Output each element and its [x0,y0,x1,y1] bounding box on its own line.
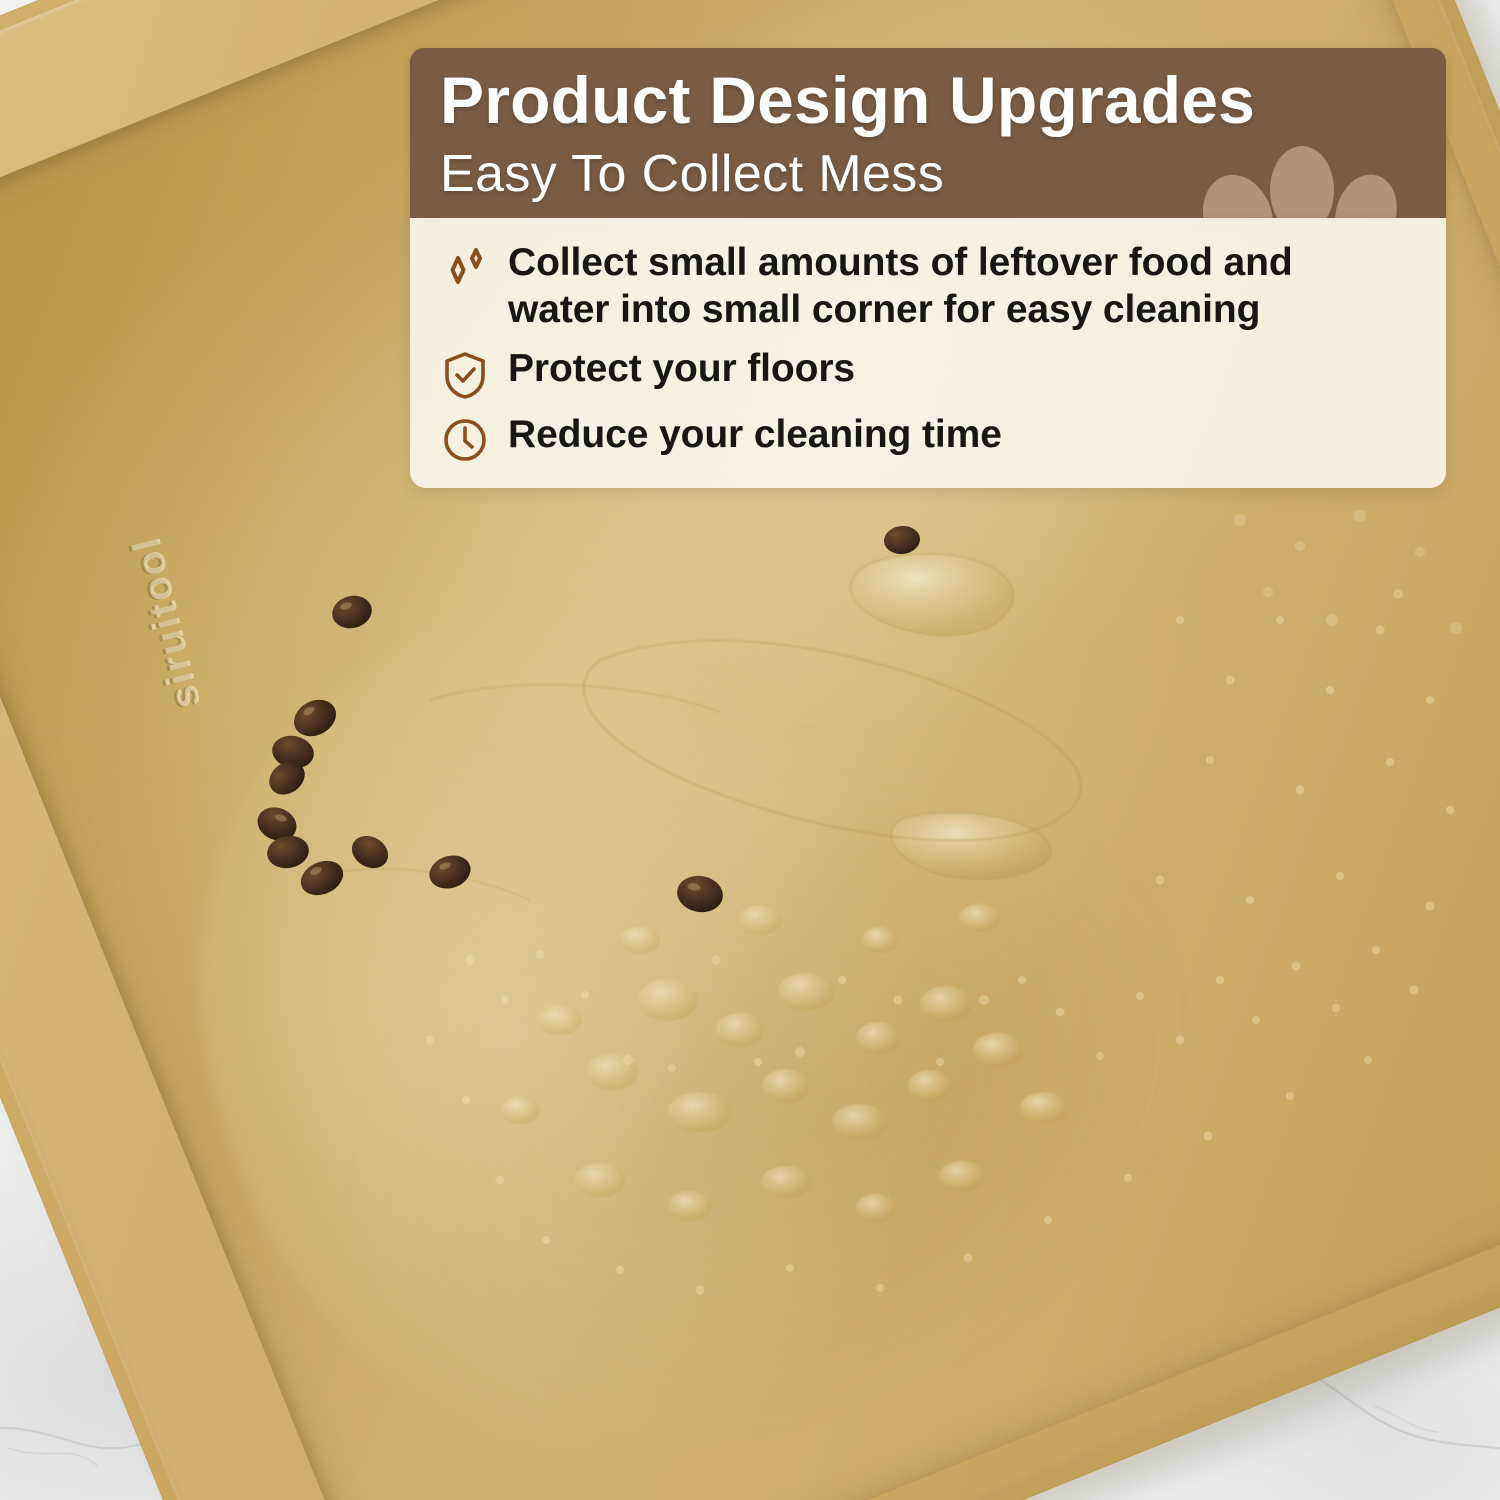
benefit-text: Protect your floors [508,346,855,393]
page-subtitle: Easy To Collect Mess [440,146,1416,202]
benefit-text: Reduce your cleaning time [508,412,1002,459]
header-banner: Product Design Upgrades Easy To Collect … [410,48,1446,218]
benefit-item: Reduce your cleaning time [438,412,1418,464]
benefits-panel: Collect small amounts of leftover food a… [410,218,1446,488]
sparkle-icon [438,240,492,296]
benefit-item: Collect small amounts of leftover food a… [438,240,1418,334]
marketing-callout: Product Design Upgrades Easy To Collect … [410,48,1446,488]
clock-icon [438,412,492,464]
shield-check-icon [438,346,492,400]
product-image-stage: siruitool Product Design Upgrades Easy T… [0,0,1500,1500]
benefit-text: Collect small amounts of leftover food a… [508,240,1293,334]
benefit-item: Protect your floors [438,346,1418,400]
page-title: Product Design Upgrades [440,66,1416,136]
